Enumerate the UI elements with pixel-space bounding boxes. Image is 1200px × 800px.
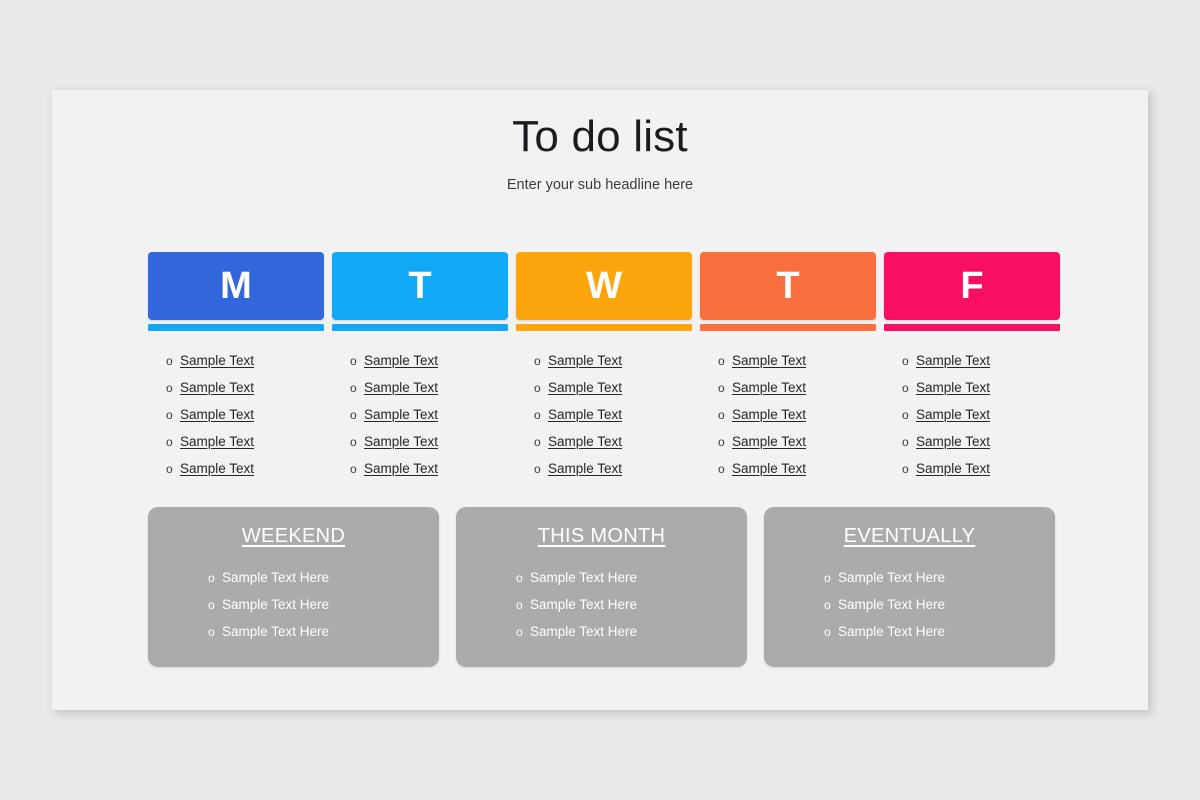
weekday-task-list-friday: oSample TextoSample TextoSample TextoSam… xyxy=(884,347,1060,482)
circle-bullet-icon: o xyxy=(718,436,732,448)
list-item-label: Sample Text xyxy=(548,434,622,449)
list-item[interactable]: oSample Text Here xyxy=(516,591,747,618)
weekday-accent-bar-tuesday xyxy=(332,324,508,331)
list-item[interactable]: oSample Text Here xyxy=(824,564,1055,591)
list-item-label: Sample Text xyxy=(364,461,438,476)
list-item[interactable]: oSample Text xyxy=(902,455,1060,482)
circle-bullet-icon: o xyxy=(208,599,222,611)
circle-bullet-icon: o xyxy=(902,382,916,394)
list-item[interactable]: oSample Text Here xyxy=(208,618,439,645)
circle-bullet-icon: o xyxy=(350,382,364,394)
list-item[interactable]: oSample Text xyxy=(350,374,508,401)
weekday-column-thursday: ToSample TextoSample TextoSample TextoSa… xyxy=(700,252,876,482)
list-item-label: Sample Text xyxy=(732,461,806,476)
circle-bullet-icon: o xyxy=(166,409,180,421)
circle-bullet-icon: o xyxy=(208,572,222,584)
weekday-task-list-wednesday: oSample TextoSample TextoSample TextoSam… xyxy=(516,347,692,482)
category-card-title-eventually: EVENTUALLY xyxy=(764,525,1055,548)
weekday-column-tuesday: ToSample TextoSample TextoSample TextoSa… xyxy=(332,252,508,482)
list-item-label: Sample Text xyxy=(364,407,438,422)
circle-bullet-icon: o xyxy=(534,355,548,367)
circle-bullet-icon: o xyxy=(350,409,364,421)
list-item-label: Sample Text Here xyxy=(530,597,637,612)
list-item[interactable]: oSample Text xyxy=(718,374,876,401)
circle-bullet-icon: o xyxy=(350,436,364,448)
list-item-label: Sample Text xyxy=(180,461,254,476)
weekday-column-wednesday: WoSample TextoSample TextoSample TextoSa… xyxy=(516,252,692,482)
slide-surface: To do list Enter your sub headline here … xyxy=(52,90,1148,710)
list-item[interactable]: oSample Text xyxy=(166,374,324,401)
list-item[interactable]: oSample Text xyxy=(166,347,324,374)
list-item-label: Sample Text xyxy=(732,353,806,368)
list-item-label: Sample Text xyxy=(548,461,622,476)
circle-bullet-icon: o xyxy=(516,572,530,584)
list-item[interactable]: oSample Text xyxy=(718,347,876,374)
category-card-eventually[interactable]: EVENTUALLYoSample Text HereoSample Text … xyxy=(764,507,1055,667)
list-item-label: Sample Text xyxy=(916,407,990,422)
circle-bullet-icon: o xyxy=(824,599,838,611)
circle-bullet-icon: o xyxy=(902,355,916,367)
category-card-title-weekend: WEEKEND xyxy=(148,525,439,548)
list-item-label: Sample Text xyxy=(180,353,254,368)
weekday-accent-bar-monday xyxy=(148,324,324,331)
list-item[interactable]: oSample Text xyxy=(718,401,876,428)
list-item-label: Sample Text xyxy=(916,434,990,449)
list-item[interactable]: oSample Text xyxy=(534,428,692,455)
list-item[interactable]: oSample Text xyxy=(534,455,692,482)
list-item[interactable]: oSample Text Here xyxy=(516,564,747,591)
weekday-column-monday: MoSample TextoSample TextoSample TextoSa… xyxy=(148,252,324,482)
list-item-label: Sample Text Here xyxy=(530,624,637,639)
list-item[interactable]: oSample Text Here xyxy=(208,591,439,618)
circle-bullet-icon: o xyxy=(166,436,180,448)
category-card-weekend[interactable]: WEEKENDoSample Text HereoSample Text Her… xyxy=(148,507,439,667)
list-item-label: Sample Text Here xyxy=(222,570,329,585)
list-item-label: Sample Text xyxy=(732,407,806,422)
list-item-label: Sample Text xyxy=(548,380,622,395)
list-item[interactable]: oSample Text xyxy=(166,455,324,482)
circle-bullet-icon: o xyxy=(166,355,180,367)
weekday-header-tuesday[interactable]: T xyxy=(332,252,508,320)
circle-bullet-icon: o xyxy=(824,572,838,584)
slide-header: To do list Enter your sub headline here xyxy=(52,90,1148,193)
list-item[interactable]: oSample Text xyxy=(534,401,692,428)
list-item[interactable]: oSample Text Here xyxy=(824,591,1055,618)
list-item-label: Sample Text xyxy=(732,434,806,449)
list-item[interactable]: oSample Text xyxy=(902,428,1060,455)
circle-bullet-icon: o xyxy=(718,355,732,367)
category-card-this-month[interactable]: THIS MONTHoSample Text HereoSample Text … xyxy=(456,507,747,667)
list-item[interactable]: oSample Text xyxy=(350,428,508,455)
list-item-label: Sample Text xyxy=(180,434,254,449)
list-item-label: Sample Text xyxy=(916,353,990,368)
circle-bullet-icon: o xyxy=(350,355,364,367)
circle-bullet-icon: o xyxy=(208,626,222,638)
list-item[interactable]: oSample Text xyxy=(166,428,324,455)
list-item-label: Sample Text Here xyxy=(530,570,637,585)
list-item[interactable]: oSample Text xyxy=(902,401,1060,428)
list-item-label: Sample Text xyxy=(732,380,806,395)
list-item[interactable]: oSample Text Here xyxy=(208,564,439,591)
list-item-label: Sample Text Here xyxy=(222,624,329,639)
category-card-title-this-month: THIS MONTH xyxy=(456,525,747,548)
category-cards: WEEKENDoSample Text HereoSample Text Her… xyxy=(148,507,1054,667)
category-card-list-weekend: oSample Text HereoSample Text HereoSampl… xyxy=(148,564,439,645)
weekday-accent-bar-thursday xyxy=(700,324,876,331)
weekday-header-thursday[interactable]: T xyxy=(700,252,876,320)
category-card-list-this-month: oSample Text HereoSample Text HereoSampl… xyxy=(456,564,747,645)
list-item-label: Sample Text xyxy=(548,353,622,368)
list-item-label: Sample Text xyxy=(180,380,254,395)
page-title: To do list xyxy=(52,112,1148,163)
list-item[interactable]: oSample Text xyxy=(166,401,324,428)
list-item[interactable]: oSample Text xyxy=(350,455,508,482)
circle-bullet-icon: o xyxy=(166,382,180,394)
list-item-label: Sample Text xyxy=(364,353,438,368)
list-item[interactable]: oSample Text xyxy=(534,374,692,401)
circle-bullet-icon: o xyxy=(902,409,916,421)
slide-canvas: To do list Enter your sub headline here … xyxy=(0,0,1200,800)
circle-bullet-icon: o xyxy=(534,436,548,448)
weekday-task-list-tuesday: oSample TextoSample TextoSample TextoSam… xyxy=(332,347,508,482)
list-item-label: Sample Text xyxy=(364,380,438,395)
list-item-label: Sample Text Here xyxy=(838,624,945,639)
circle-bullet-icon: o xyxy=(718,382,732,394)
circle-bullet-icon: o xyxy=(516,626,530,638)
circle-bullet-icon: o xyxy=(534,463,548,475)
circle-bullet-icon: o xyxy=(718,463,732,475)
list-item[interactable]: oSample Text xyxy=(902,374,1060,401)
circle-bullet-icon: o xyxy=(516,599,530,611)
list-item[interactable]: oSample Text xyxy=(534,347,692,374)
list-item-label: Sample Text xyxy=(180,407,254,422)
weekday-task-list-thursday: oSample TextoSample TextoSample TextoSam… xyxy=(700,347,876,482)
list-item-label: Sample Text Here xyxy=(838,570,945,585)
weekday-column-friday: FoSample TextoSample TextoSample TextoSa… xyxy=(884,252,1060,482)
circle-bullet-icon: o xyxy=(902,463,916,475)
list-item-label: Sample Text xyxy=(548,407,622,422)
list-item-label: Sample Text Here xyxy=(838,597,945,612)
list-item[interactable]: oSample Text xyxy=(350,347,508,374)
list-item[interactable]: oSample Text xyxy=(350,401,508,428)
list-item[interactable]: oSample Text xyxy=(718,428,876,455)
weekday-columns: MoSample TextoSample TextoSample TextoSa… xyxy=(148,252,1048,482)
list-item-label: Sample Text Here xyxy=(222,597,329,612)
weekday-accent-bar-wednesday xyxy=(516,324,692,331)
weekday-header-monday[interactable]: M xyxy=(148,252,324,320)
circle-bullet-icon: o xyxy=(534,382,548,394)
weekday-task-list-monday: oSample TextoSample TextoSample TextoSam… xyxy=(148,347,324,482)
list-item-label: Sample Text xyxy=(916,461,990,476)
circle-bullet-icon: o xyxy=(166,463,180,475)
circle-bullet-icon: o xyxy=(534,409,548,421)
list-item-label: Sample Text xyxy=(364,434,438,449)
list-item-label: Sample Text xyxy=(916,380,990,395)
page-subtitle: Enter your sub headline here xyxy=(52,177,1148,193)
category-card-list-eventually: oSample Text HereoSample Text HereoSampl… xyxy=(764,564,1055,645)
circle-bullet-icon: o xyxy=(824,626,838,638)
weekday-header-wednesday[interactable]: W xyxy=(516,252,692,320)
list-item[interactable]: oSample Text xyxy=(902,347,1060,374)
weekday-header-friday[interactable]: F xyxy=(884,252,1060,320)
weekday-accent-bar-friday xyxy=(884,324,1060,331)
circle-bullet-icon: o xyxy=(718,409,732,421)
circle-bullet-icon: o xyxy=(902,436,916,448)
circle-bullet-icon: o xyxy=(350,463,364,475)
list-item[interactable]: oSample Text xyxy=(718,455,876,482)
list-item[interactable]: oSample Text Here xyxy=(516,618,747,645)
list-item[interactable]: oSample Text Here xyxy=(824,618,1055,645)
